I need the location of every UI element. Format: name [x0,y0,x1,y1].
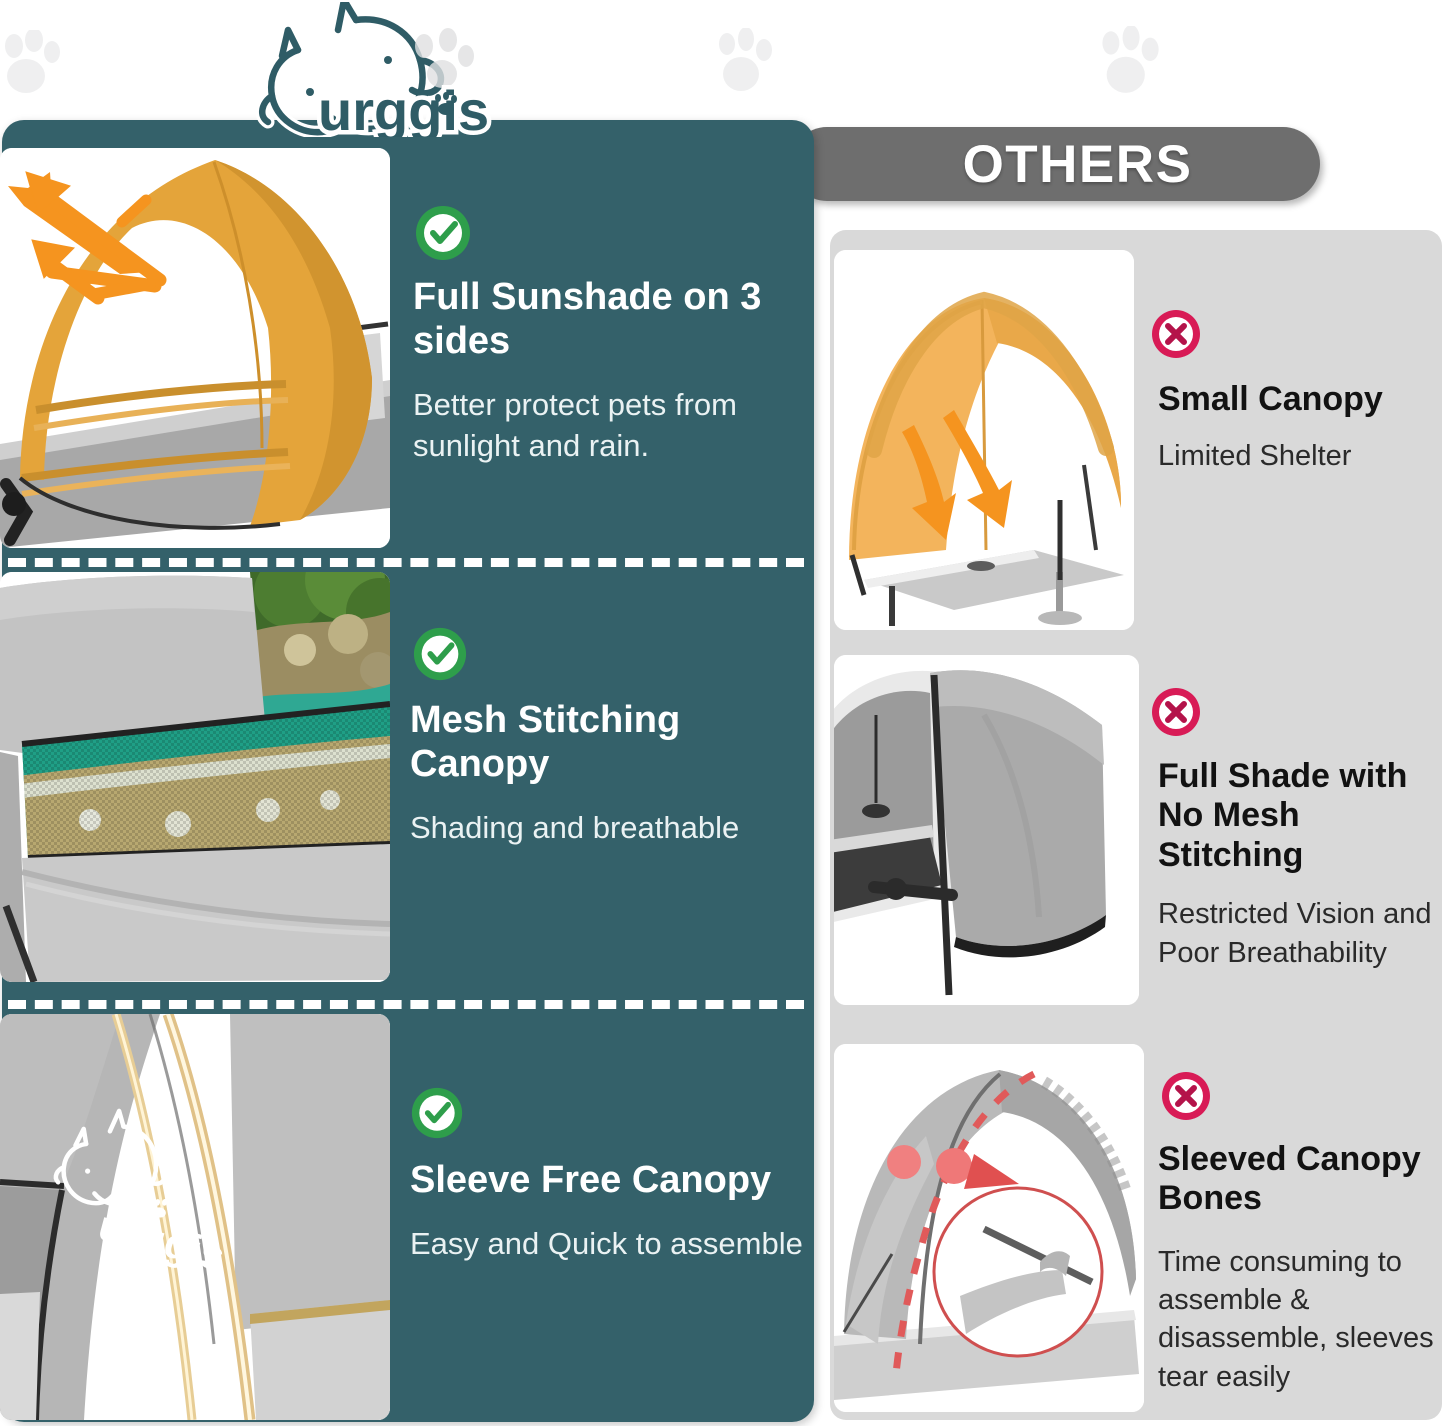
brand-divider-1 [8,558,804,567]
others-photo-sleeved-bones [834,1044,1144,1412]
brand-feature-3-title: Sleeve Free Canopy [410,1158,808,1202]
svg-text:urggis: urggis [318,79,489,137]
brand-logo: urggis [252,2,492,137]
others-badge: OTHERS [790,127,1320,201]
others-feature-2-title: Full Shade with No Mesh Stitching [1158,757,1438,875]
brand-feature-3-subtitle: Easy and Quick to assemble [410,1224,808,1265]
brand-feature-1-subtitle: Better protect pets from sunlight and ra… [413,385,805,467]
others-feature-3-text: Sleeved Canopy Bones Time consuming to a… [1158,1140,1436,1396]
cross-circle-icon [1160,1070,1212,1127]
brand-photo-mesh-stitching [0,572,390,982]
brand-feature-1-text: Full Sunshade on 3 sides Better protect … [413,275,805,467]
others-feature-1-text: Small Canopy Limited Shelter [1158,380,1433,476]
check-circle-icon [412,626,468,687]
brand-divider-2 [8,1000,804,1009]
others-feature-3-title: Sleeved Canopy Bones [1158,1140,1436,1219]
check-circle-icon [414,204,472,267]
others-feature-1-title: Small Canopy [1158,380,1433,419]
brand-feature-2-subtitle: Shading and breathable [410,808,805,849]
brand-photo-full-sunshade [0,148,390,548]
check-circle-icon [410,1086,464,1145]
brand-feature-2-text: Mesh Stitching Canopy Shading and breath… [410,698,805,849]
paw-print-icon [1098,26,1162,96]
brand-feature-2-title: Mesh Stitching Canopy [410,698,805,786]
others-feature-1-subtitle: Limited Shelter [1158,437,1433,475]
brand-feature-3-text: Sleeve Free Canopy Easy and Quick to ass… [410,1158,808,1265]
others-feature-2-subtitle: Restricted Vision and Poor Breathability [1158,895,1438,972]
brand-photo-sleeve-free: urggis [0,1014,390,1420]
others-photo-no-mesh [834,655,1139,1005]
others-feature-2-text: Full Shade with No Mesh Stitching Restri… [1158,757,1438,972]
cross-circle-icon [1150,308,1202,365]
others-feature-3-subtitle: Time consuming to assemble & disassemble… [1158,1243,1436,1396]
cross-circle-icon [1150,686,1202,743]
comparison-infographic: OTHERS [0,0,1445,1426]
paw-print-icon [2,30,62,96]
others-photo-small-canopy [834,250,1134,630]
paw-print-icon [715,28,775,94]
others-badge-label: OTHERS [918,134,1193,195]
brand-feature-1-title: Full Sunshade on 3 sides [413,275,805,363]
